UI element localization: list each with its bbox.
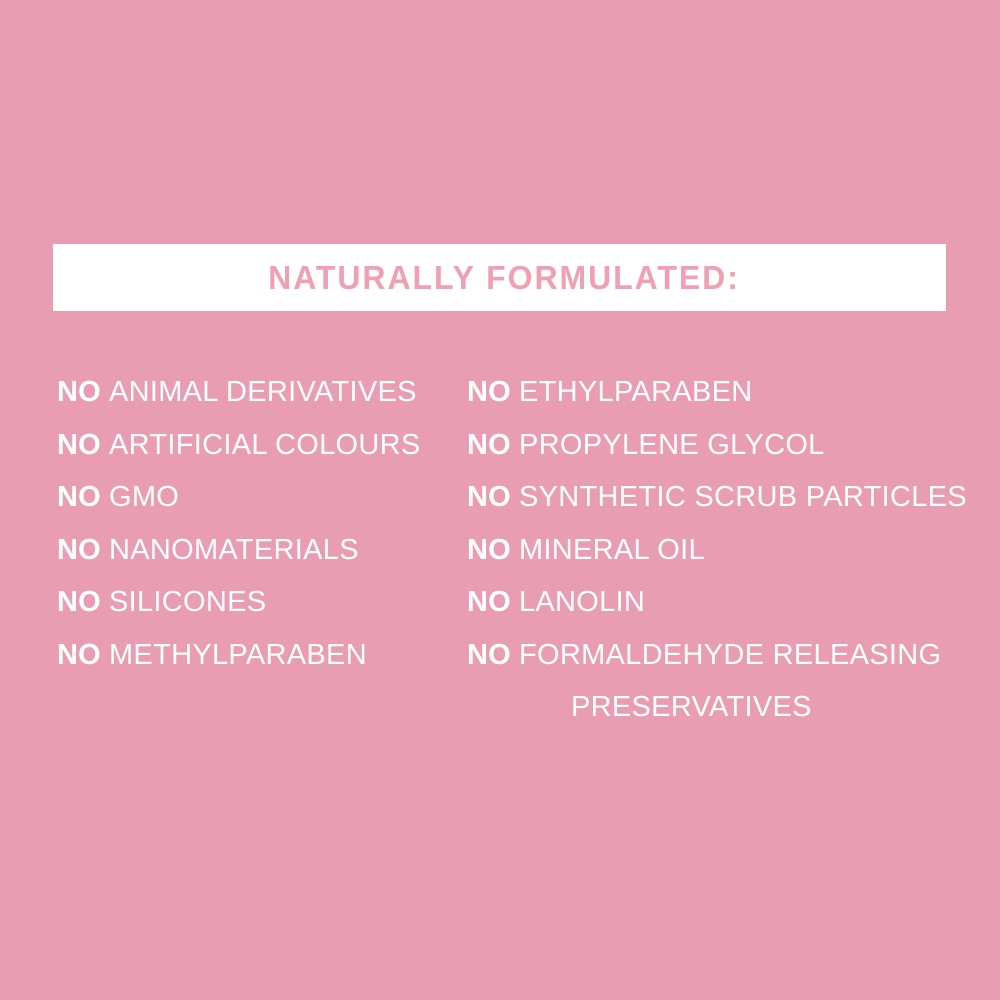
ingredient-label: ANIMAL DERIVATIVES bbox=[109, 376, 417, 408]
ingredient-label: LANOLIN bbox=[519, 586, 645, 618]
list-item: NO ETHYLPARABEN bbox=[467, 366, 967, 419]
list-item: NO PROPYLENE GLYCOL bbox=[467, 419, 967, 472]
list-item: NO LANOLIN bbox=[467, 576, 967, 629]
ingredient-label: FORMALDEHYDE RELEASING bbox=[519, 639, 941, 671]
no-prefix: NO bbox=[467, 481, 511, 513]
no-prefix: NO bbox=[467, 586, 511, 618]
ingredient-label: NANOMATERIALS bbox=[109, 534, 359, 566]
list-item: NO MINERAL OIL bbox=[467, 524, 967, 577]
no-prefix: NO bbox=[57, 586, 101, 618]
list-item: NO FORMALDEHYDE RELEASING PRESERVATIVES bbox=[467, 629, 967, 734]
ingredient-label: ETHYLPARABEN bbox=[519, 376, 753, 408]
exclusion-list-right-column: NO ETHYLPARABEN NO PROPYLENE GLYCOL NO S… bbox=[467, 366, 967, 734]
no-prefix: NO bbox=[467, 534, 511, 566]
no-prefix: NO bbox=[57, 429, 101, 461]
naturally-formulated-infographic: { "colors": { "background": "#e99db2", "… bbox=[0, 0, 1000, 1000]
exclusion-list-left-column: NO ANIMAL DERIVATIVES NO ARTIFICIAL COLO… bbox=[57, 366, 457, 681]
list-item: NO METHYLPARABEN bbox=[57, 629, 457, 682]
list-item: NO ANIMAL DERIVATIVES bbox=[57, 366, 457, 419]
list-item: NO ARTIFICIAL COLOURS bbox=[57, 419, 457, 472]
ingredient-label: GMO bbox=[109, 481, 179, 513]
ingredient-label: SYNTHETIC SCRUB PARTICLES bbox=[519, 481, 967, 513]
list-item: NO GMO bbox=[57, 471, 457, 524]
naturally-formulated-banner: NATURALLY FORMULATED: bbox=[53, 244, 946, 311]
no-prefix: NO bbox=[467, 429, 511, 461]
no-prefix: NO bbox=[57, 534, 101, 566]
list-item: NO SYNTHETIC SCRUB PARTICLES bbox=[467, 471, 967, 524]
ingredient-label: SILICONES bbox=[109, 586, 266, 618]
no-prefix: NO bbox=[57, 376, 101, 408]
ingredient-label: MINERAL OIL bbox=[519, 534, 705, 566]
ingredient-label-continuation: PRESERVATIVES bbox=[519, 681, 967, 734]
ingredient-label: METHYLPARABEN bbox=[109, 639, 367, 671]
no-prefix: NO bbox=[467, 376, 511, 408]
list-item: NO SILICONES bbox=[57, 576, 457, 629]
page-title: NATURALLY FORMULATED: bbox=[259, 259, 740, 297]
no-prefix: NO bbox=[57, 639, 101, 671]
list-item: NO NANOMATERIALS bbox=[57, 524, 457, 577]
no-prefix: NO bbox=[467, 639, 511, 671]
ingredient-label: ARTIFICIAL COLOURS bbox=[109, 429, 421, 461]
ingredient-label: PROPYLENE GLYCOL bbox=[519, 429, 825, 461]
no-prefix: NO bbox=[57, 481, 101, 513]
